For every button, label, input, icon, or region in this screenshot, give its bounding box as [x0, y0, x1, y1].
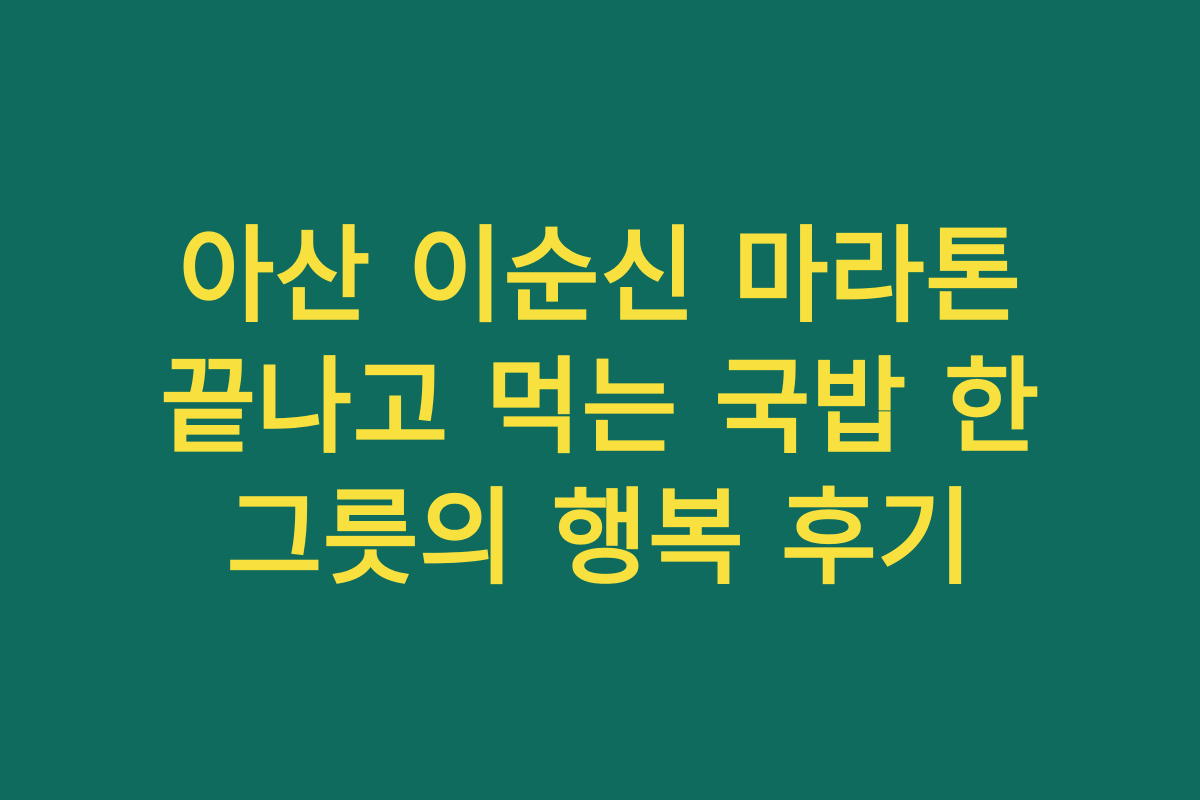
title-block: 아산 이순신 마라톤 끝나고 먹는 국밥 한 그릇의 행복 후기: [113, 211, 1088, 604]
thumbnail-canvas: 아산 이순신 마라톤 끝나고 먹는 국밥 한 그릇의 행복 후기: [0, 0, 1200, 800]
page-title: 아산 이순신 마라톤 끝나고 먹는 국밥 한 그릇의 행복 후기: [113, 211, 1088, 604]
